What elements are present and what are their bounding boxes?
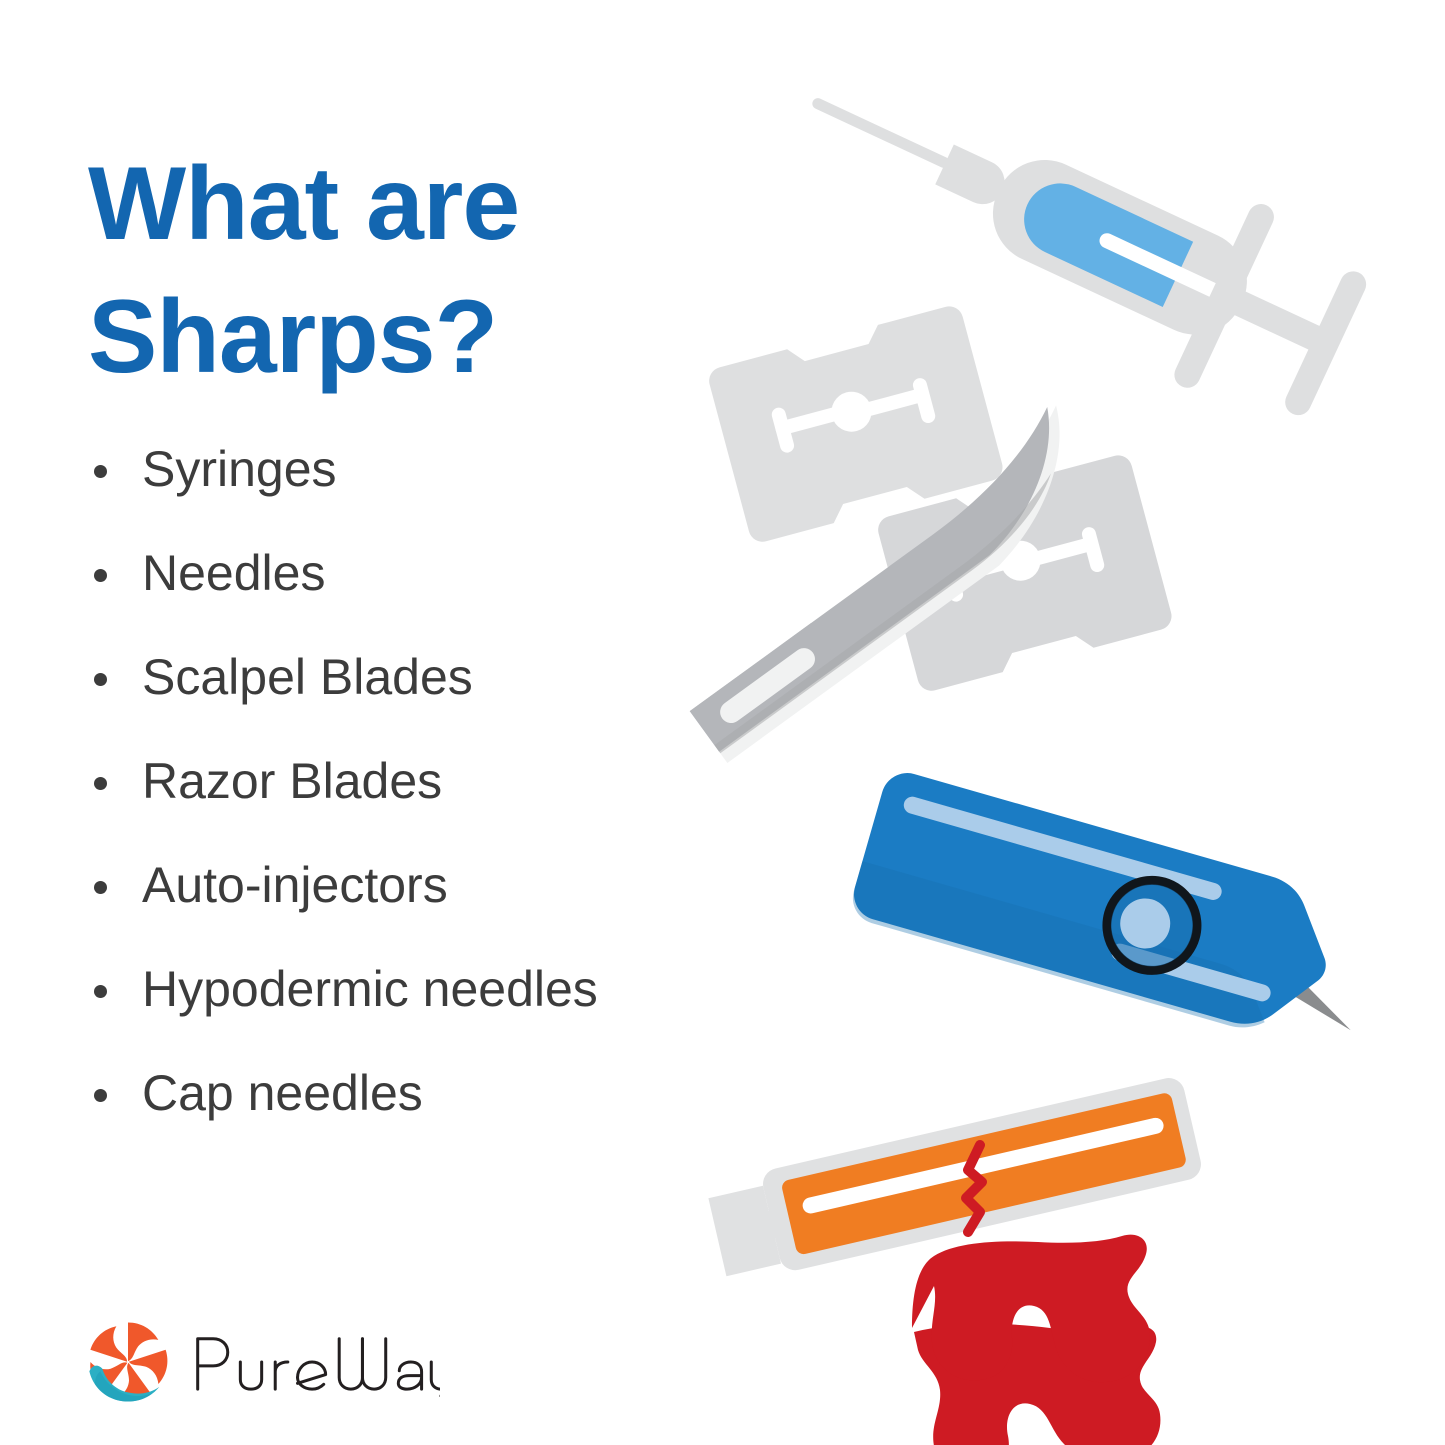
page-title-line-2: Sharps? xyxy=(88,271,708,404)
pureway-logo: R xyxy=(82,1316,440,1408)
pureway-wordmark: R xyxy=(188,1327,440,1397)
illustration-blades xyxy=(670,345,1230,775)
list-item-label: Hypodermic needles xyxy=(142,961,598,1017)
bullet-point-icon xyxy=(94,985,107,998)
illustration-auto-injector xyxy=(680,1070,1260,1445)
list-item-label: Cap needles xyxy=(142,1065,423,1121)
bullet-point-icon xyxy=(94,673,107,686)
poster-canvas: What are Sharps? Syringes Needles Scalpe… xyxy=(0,0,1445,1445)
page-title: What are Sharps? xyxy=(88,138,708,404)
bullet-point-icon xyxy=(94,465,107,478)
list-item-label: Syringes xyxy=(142,441,337,497)
list-item: Hypodermic needles xyxy=(86,963,786,1016)
list-item-label: Needles xyxy=(142,545,325,601)
bullet-point-icon xyxy=(94,569,107,582)
list-item-label: Razor Blades xyxy=(142,753,442,809)
bullet-point-icon xyxy=(94,1089,107,1102)
list-item: Auto-injectors xyxy=(86,859,786,912)
list-item-label: Scalpel Blades xyxy=(142,649,473,705)
illustration-utility-knife xyxy=(820,765,1410,1075)
bullet-point-icon xyxy=(94,881,107,894)
bullet-point-icon xyxy=(94,777,107,790)
list-item-label: Auto-injectors xyxy=(142,857,448,913)
page-title-line-1: What are xyxy=(88,138,708,271)
pureway-swirl-icon xyxy=(82,1316,174,1408)
